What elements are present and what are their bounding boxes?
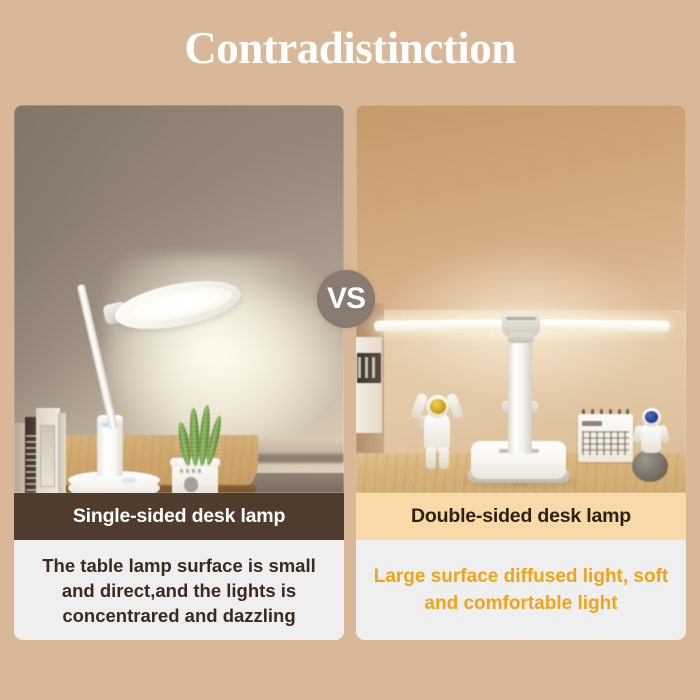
card-blurb-text: Large surface diffused light, soft and c…: [370, 563, 672, 617]
book-spine-text: [26, 435, 36, 493]
double-sided-desk-lamp-photo: [356, 105, 686, 493]
astronaut-blue-figurine-body: [641, 423, 661, 453]
astronaut-gold-visor: [430, 399, 446, 414]
astronaut-blue-visor: [645, 411, 658, 423]
single-sided-desk-lamp-photo: [14, 105, 344, 493]
comparison-card-single-sided[interactable]: Single-sided desk lamp The table lamp su…: [14, 105, 344, 640]
page-title: Contradistinction: [0, 22, 700, 74]
card-caption-double-sided: Double-sided desk lamp: [356, 493, 686, 540]
astronaut-leg: [426, 447, 436, 469]
lamp-bar-hub-collar: [508, 333, 534, 343]
card-caption-label: Double-sided desk lamp: [411, 505, 631, 528]
comparison-page: Contradistinction: [0, 0, 700, 700]
book-cover-panel: [40, 425, 55, 487]
book-stack-item: [58, 413, 66, 493]
lamp-bar-hub-seam: [506, 317, 536, 320]
lamp-upper-arm: [508, 341, 532, 438]
cactus-ridges: [176, 405, 222, 467]
comparison-card-double-sided[interactable]: Double-sided desk lamp Large surface dif…: [356, 105, 686, 640]
card-caption-single-sided: Single-sided desk lamp: [14, 493, 344, 540]
card-blurb-single-sided: The table lamp surface is small and dire…: [14, 540, 344, 640]
vs-badge: VS: [317, 270, 375, 328]
card-blurb-double-sided: Large surface diffused light, soft and c…: [356, 540, 686, 640]
calendar-date-grid: [582, 431, 629, 455]
lamp-base-button: [122, 478, 136, 483]
moon-ball-stand: [632, 450, 668, 482]
card-blurb-text: The table lamp surface is small and dire…: [28, 553, 330, 628]
astronaut-gold-figurine-body: [424, 413, 450, 451]
lamp-bar-right: [538, 319, 670, 331]
plant-pot-label: [180, 469, 204, 473]
vs-badge-label: VS: [327, 282, 365, 316]
astronaut-leg: [439, 447, 449, 469]
lamp-bar-left: [374, 319, 504, 331]
card-caption-label: Single-sided desk lamp: [73, 505, 285, 528]
calendar-header: [582, 421, 602, 426]
plant-pot-graphic: [184, 477, 198, 492]
